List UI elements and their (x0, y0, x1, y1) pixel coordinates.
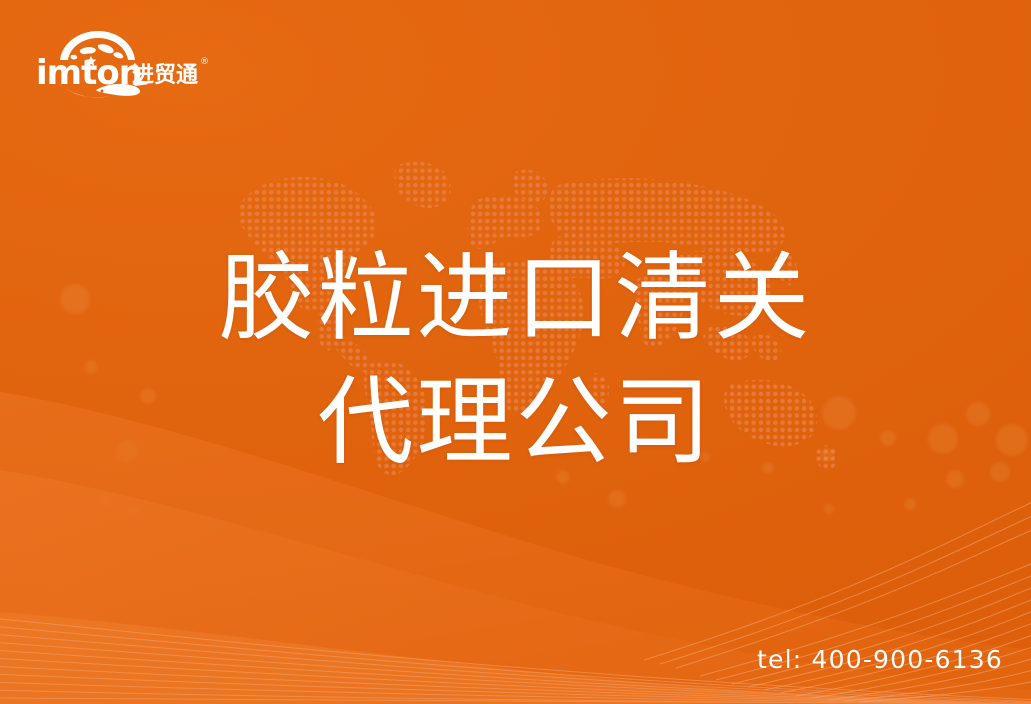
svg-text:®: ® (200, 57, 208, 67)
svg-text:imton: imton (36, 53, 142, 93)
brand-logo[interactable]: imton 进贸通 ® (36, 26, 208, 100)
svg-text:进贸通: 进贸通 (132, 63, 198, 88)
promo-banner: imton 进贸通 ® 胶粒进口清关 代理公司 tel: 400-900-613… (0, 0, 1031, 704)
page-title: 胶粒进口清关 代理公司 (0, 236, 1031, 484)
title-line-2: 代理公司 (0, 360, 1031, 484)
logo-wordmark-cn: 进贸通 ® (132, 57, 208, 88)
logo-wordmark-latin: imton (36, 53, 142, 93)
title-line-1: 胶粒进口清关 (0, 236, 1031, 360)
contact-phone[interactable]: tel: 400-900-6136 (757, 645, 1003, 674)
